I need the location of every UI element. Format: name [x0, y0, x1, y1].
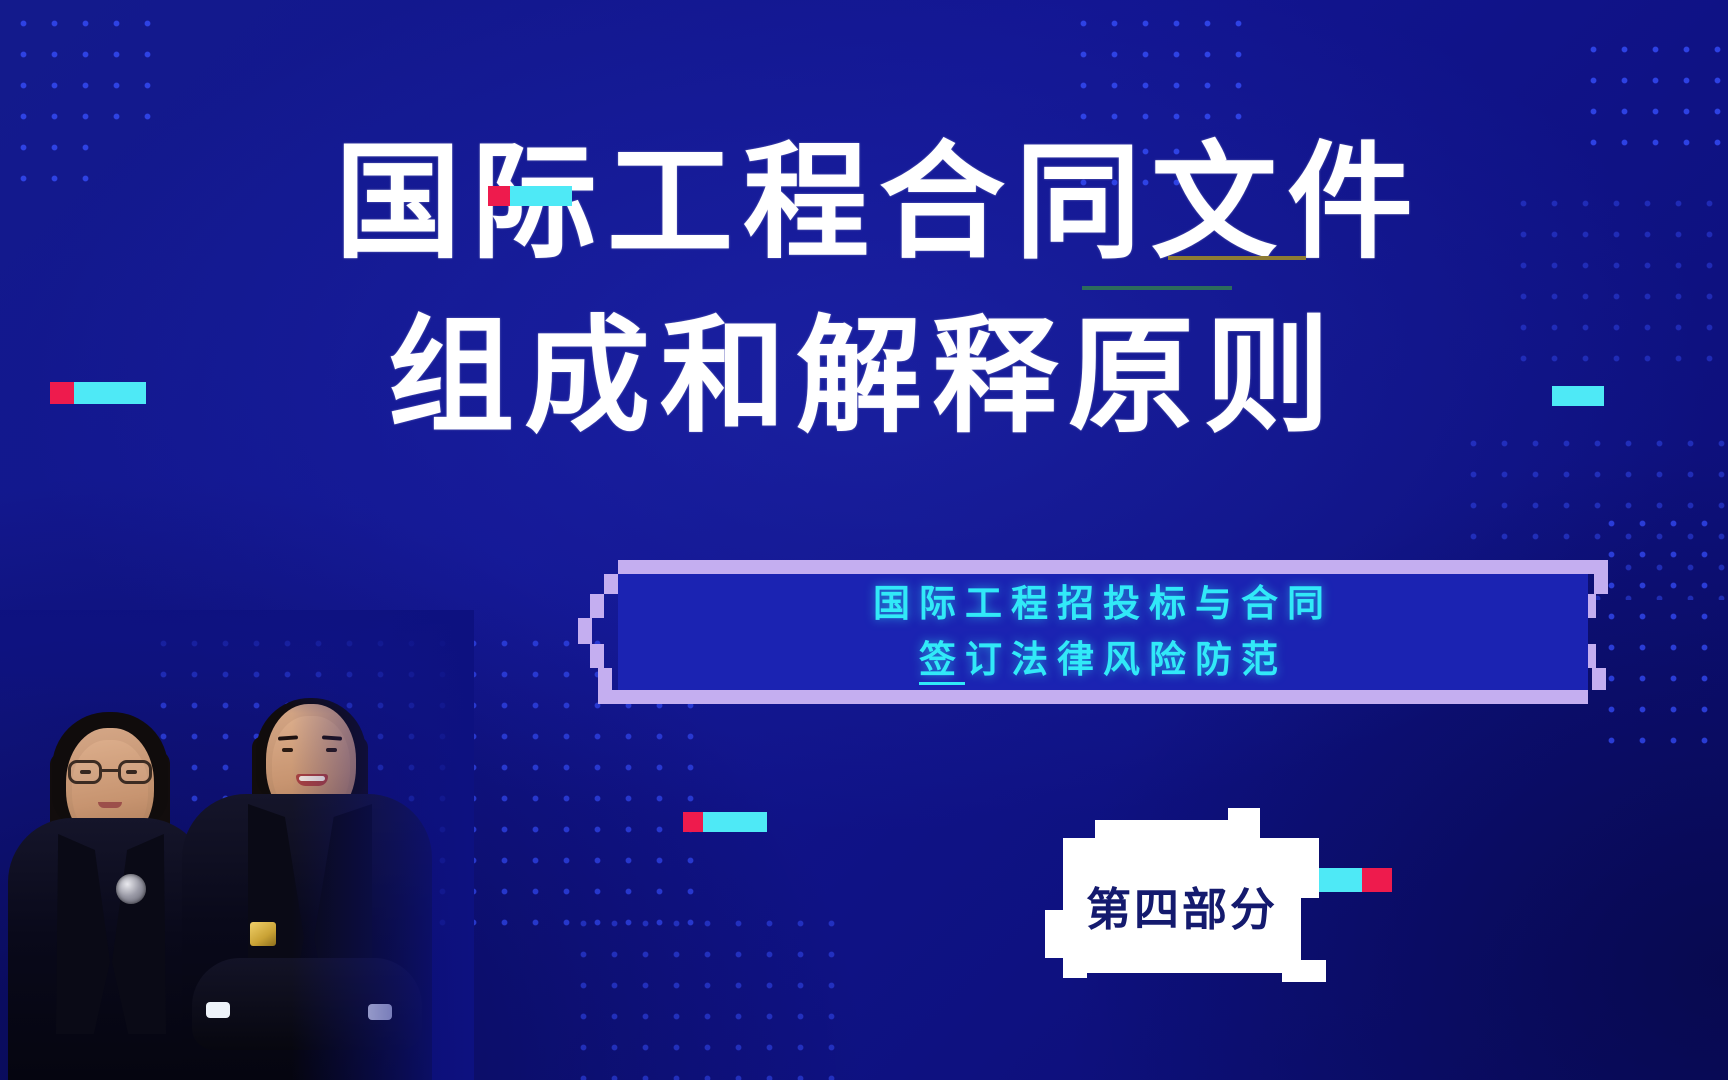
- accent-bar-right-edge: [1552, 386, 1604, 406]
- title-underline-gold: [1168, 256, 1306, 260]
- subtitle-line-2-rest: 订法律风险防范: [965, 638, 1287, 681]
- badge-notch-bottom-right: [1299, 838, 1319, 898]
- badge-notch-top: [1228, 808, 1260, 840]
- plaque-step-left-2: [590, 594, 604, 618]
- dot-pattern-bottom-middle: [560, 900, 840, 1080]
- plaque-step-left-3: [578, 618, 592, 644]
- accent-bar-left: [50, 382, 146, 404]
- dot-pattern-bottom-left: [0, 960, 330, 1080]
- dot-pattern-middle-right-upper: [1500, 180, 1728, 380]
- dot-pattern-top-left: [0, 0, 168, 124]
- accent-bar-red-segment: [50, 382, 74, 404]
- dot-pattern-top-middle: [1060, 0, 1250, 128]
- accent-bar-middle: [683, 812, 767, 832]
- plaque-step-right-1: [1594, 574, 1608, 594]
- accent-bar-title: [488, 186, 572, 206]
- accent-bar-cyan-segment: [510, 186, 572, 206]
- badge-notch-top-left: [1095, 820, 1230, 840]
- slide-root: 国际工程合同文件 组成和解释原则 国际工程招投标与: [0, 0, 1728, 1080]
- accent-bar-red-segment: [488, 186, 510, 206]
- plaque-step-right-5: [1592, 668, 1606, 690]
- plaque-border-bottom: [598, 690, 1588, 704]
- plaque-step-left-4: [590, 644, 604, 668]
- subtitle-line-2-first-char: 签: [919, 638, 965, 685]
- plaque-border-top: [618, 560, 1608, 574]
- subtitle-plaque: 国际工程招投标与合同 签订法律风险防范: [578, 560, 1608, 704]
- title-underline-teal: [1082, 286, 1232, 290]
- dot-pattern-top-left-lower: [0, 124, 104, 190]
- subtitle-panel: 国际工程招投标与合同 签订法律风险防范: [618, 574, 1588, 690]
- accent-bar-cyan-segment: [703, 812, 767, 832]
- accent-bar-red-segment: [1362, 868, 1392, 892]
- badge-notch-bottom-left: [1045, 910, 1065, 958]
- accent-bar-red-segment: [683, 812, 703, 832]
- plaque-step-left-5: [598, 668, 612, 690]
- part-badge: 第四部分: [1063, 838, 1301, 973]
- subtitle-line-2: 签订法律风险防范: [919, 632, 1287, 688]
- dot-pattern-top-middle-lower: [1060, 128, 1188, 192]
- accent-bar-cyan-segment: [1552, 386, 1604, 406]
- accent-bar-cyan-segment: [74, 382, 146, 404]
- part-badge-label: 第四部分: [1086, 873, 1278, 938]
- subtitle-line-1: 国际工程招投标与合同: [873, 576, 1333, 632]
- plaque-step-left-1: [604, 574, 618, 594]
- dot-pattern-top-right: [1570, 26, 1728, 154]
